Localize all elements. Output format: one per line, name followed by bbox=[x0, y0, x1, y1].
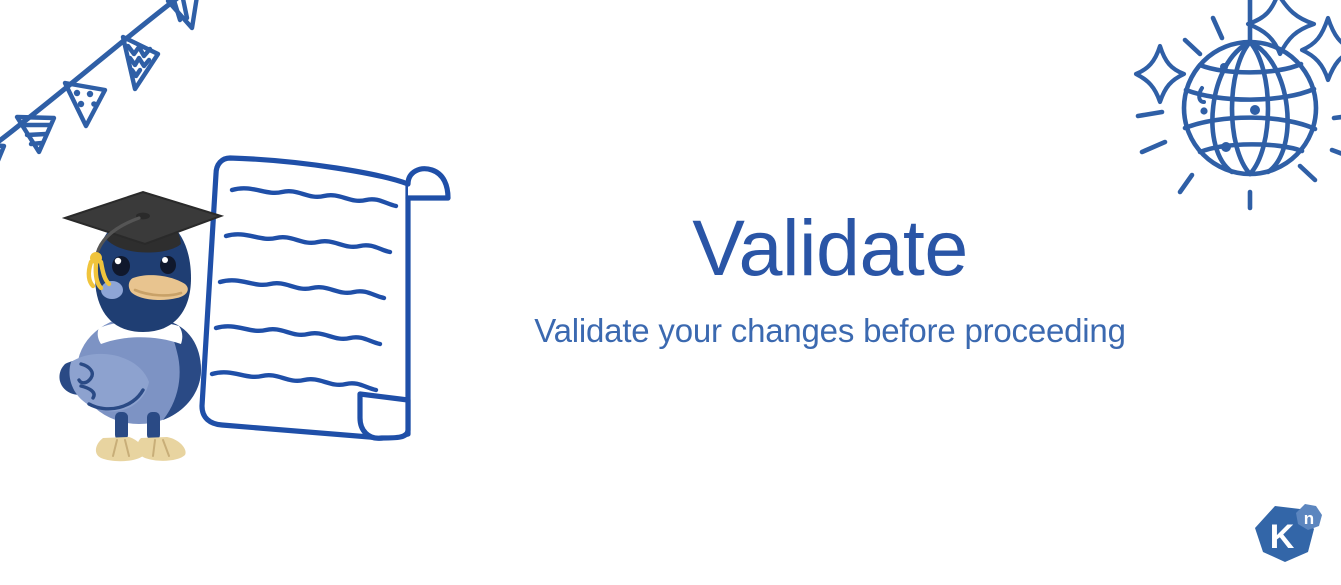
graduate-bird-mascot bbox=[55, 186, 230, 466]
logo-badge-letter-n: n bbox=[1304, 509, 1314, 528]
hero-text-block: Validate Validate your changes before pr… bbox=[460, 205, 1200, 350]
slide-canvas: Validate Validate your changes before pr… bbox=[0, 0, 1341, 585]
certificate-scroll bbox=[182, 138, 467, 463]
brand-logo[interactable]: K n bbox=[1250, 500, 1324, 572]
page-subtitle: Validate your changes before proceeding bbox=[460, 312, 1200, 350]
page-title: Validate bbox=[460, 205, 1200, 290]
party-bunting-banner bbox=[0, 0, 222, 184]
logo-letter-k: K bbox=[1270, 518, 1295, 556]
disco-ball bbox=[1120, 0, 1341, 230]
